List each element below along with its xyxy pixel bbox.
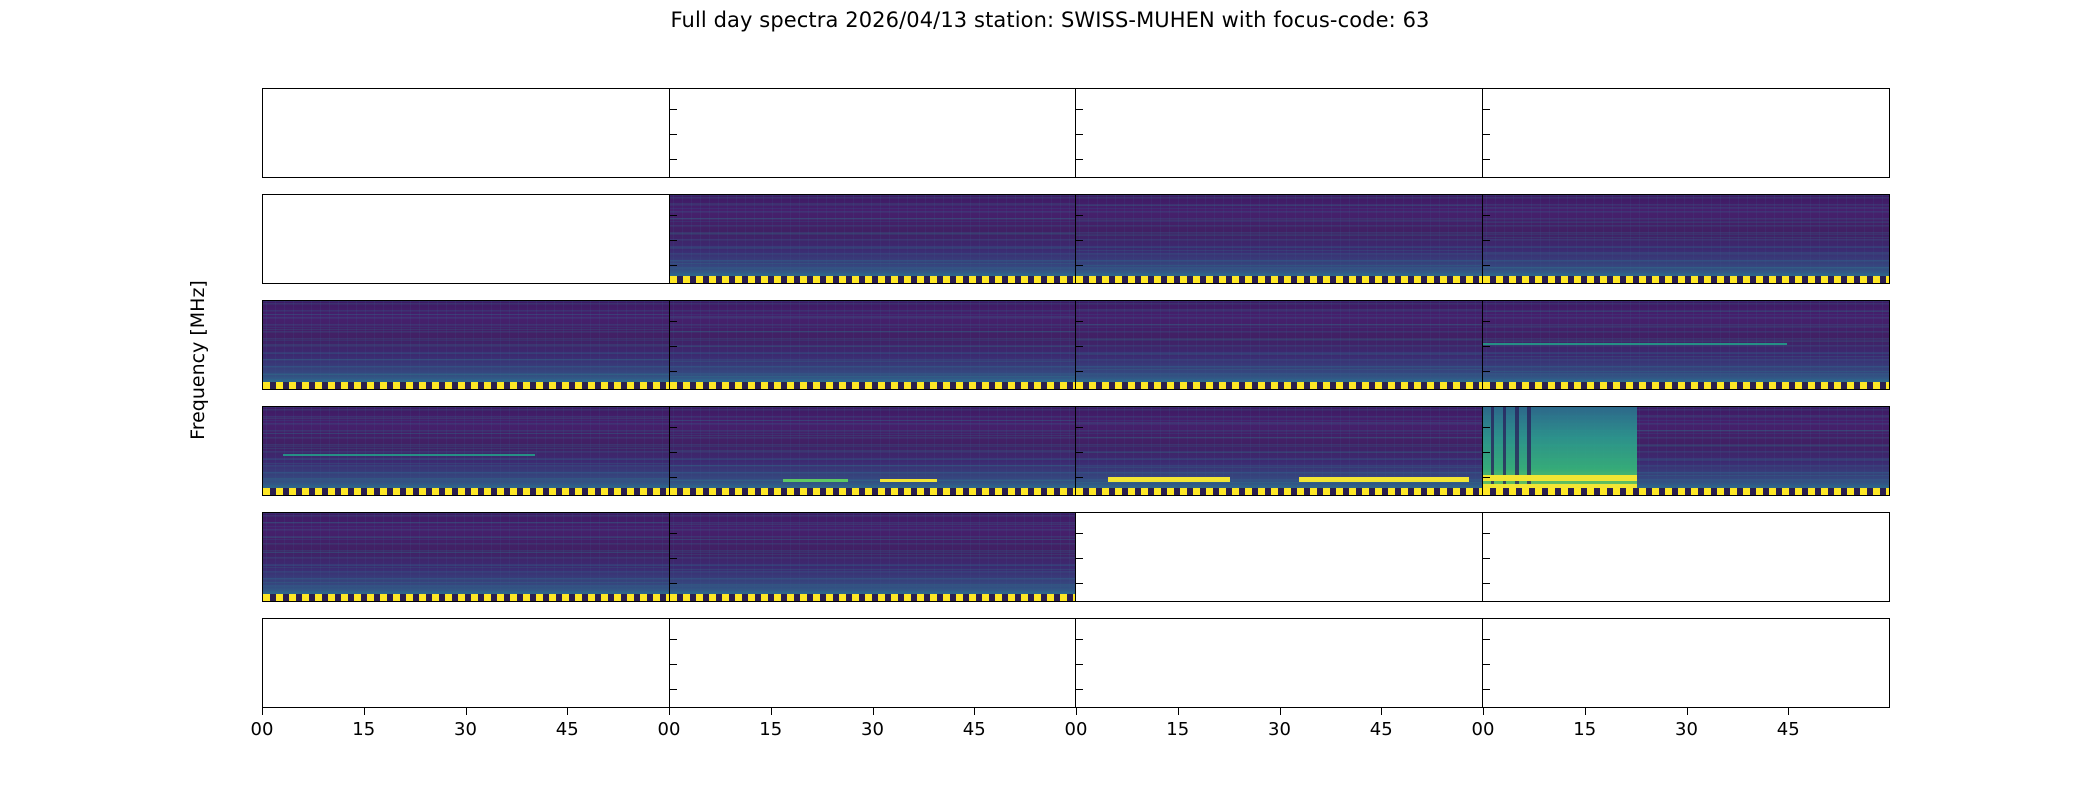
x-tick-mark <box>771 708 772 715</box>
y-tick-mark <box>1483 321 1490 322</box>
hour-panels <box>263 513 1889 601</box>
y-tick-mark <box>1483 533 1490 534</box>
y-tick-mark <box>1483 558 1490 559</box>
spectral-trace <box>263 567 669 568</box>
hour-panel <box>670 301 1077 389</box>
hour-panel <box>1483 513 1890 601</box>
spectral-trace <box>1483 341 1890 342</box>
spectrogram-row: 75502508-11UT <box>262 300 1890 390</box>
empty-panel <box>1076 89 1482 177</box>
spectral-trace <box>1076 324 1482 325</box>
x-tick-label: 30 <box>1268 719 1291 740</box>
empty-panel <box>670 619 1076 707</box>
hour-panels <box>263 195 1889 283</box>
spectral-trace <box>670 435 1076 436</box>
x-tick-label: 45 <box>1370 719 1393 740</box>
spectral-trace <box>670 465 1076 466</box>
x-tick-mark <box>1483 708 1484 715</box>
y-tick-mark <box>1483 427 1490 428</box>
x-tick-mark <box>364 708 365 715</box>
y-tick-mark <box>1076 558 1083 559</box>
spectral-trace <box>670 554 1076 555</box>
spectral-trace <box>263 448 669 449</box>
spectral-trace <box>1076 309 1482 310</box>
x-tick-mark <box>974 708 975 715</box>
y-tick-mark <box>1076 689 1083 690</box>
y-tick-mark <box>670 215 677 216</box>
spectral-trace <box>1076 422 1482 423</box>
spectral-trace <box>263 314 669 315</box>
spectral-trace <box>263 433 669 434</box>
x-tick-mark <box>1788 708 1789 715</box>
y-tick-mark <box>670 427 677 428</box>
y-tick-mark <box>1076 240 1083 241</box>
hour-panel <box>1076 407 1483 495</box>
spectrogram-image <box>1076 407 1482 495</box>
emission-feature <box>783 479 848 482</box>
burst-striation <box>1515 407 1519 495</box>
spectral-trace <box>1076 369 1482 370</box>
emission-feature <box>1299 477 1469 482</box>
x-tick-mark <box>873 708 874 715</box>
hour-panel <box>263 195 670 283</box>
hour-panel <box>1076 619 1483 707</box>
spectral-trace <box>670 584 1076 585</box>
hour-panel <box>1483 407 1890 495</box>
spectral-trace <box>1483 237 1890 238</box>
hour-panel <box>1483 619 1890 707</box>
x-tick-mark <box>466 708 467 715</box>
hour-panel <box>1483 89 1890 177</box>
hour-panel <box>1076 89 1483 177</box>
hour-panel <box>263 301 670 389</box>
y-tick-mark <box>262 321 263 322</box>
baseline-band <box>1483 276 1890 283</box>
x-tick-label: 45 <box>963 719 986 740</box>
spectrogram-image <box>670 195 1076 283</box>
y-tick-mark <box>670 558 677 559</box>
empty-panel <box>1483 89 1890 177</box>
empty-panel <box>263 89 669 177</box>
x-tick-label: 15 <box>1166 719 1189 740</box>
y-tick-mark <box>1483 346 1490 347</box>
spectral-trace <box>263 552 669 553</box>
spectral-trace <box>1076 482 1482 483</box>
spectral-trace <box>670 248 1076 249</box>
x-tick-label: 45 <box>556 719 579 740</box>
y-tick-mark <box>1483 240 1490 241</box>
y-tick-mark <box>670 159 677 160</box>
hour-panel <box>670 195 1077 283</box>
spectral-trace <box>1483 311 1890 312</box>
spectrogram-row: 75502520-23UT <box>262 618 1890 708</box>
spectral-trace <box>670 263 1076 264</box>
y-tick-mark <box>262 134 263 135</box>
y-tick-mark <box>262 346 263 347</box>
x-tick-label: 30 <box>861 719 884 740</box>
spectrogram-image <box>263 407 669 495</box>
x-tick-mark <box>669 708 670 715</box>
spectral-trace <box>1483 252 1890 253</box>
y-tick-mark <box>262 159 263 160</box>
y-tick-mark <box>1076 134 1083 135</box>
empty-panel <box>263 619 669 707</box>
spectral-trace <box>670 480 1076 481</box>
emission-feature <box>283 454 534 456</box>
y-tick-mark <box>670 240 677 241</box>
emission-feature <box>880 479 937 482</box>
y-tick-mark <box>670 346 677 347</box>
spectral-trace <box>670 539 1076 540</box>
y-tick-mark <box>1076 109 1083 110</box>
empty-panel <box>263 195 669 283</box>
x-tick-label: 30 <box>1675 719 1698 740</box>
y-tick-mark <box>262 427 263 428</box>
emission-feature <box>1483 475 1637 481</box>
y-tick-mark <box>1483 452 1490 453</box>
hour-panels <box>263 89 1889 177</box>
spectrogram-row: 75502512-15UT <box>262 406 1890 496</box>
y-tick-mark <box>262 583 263 584</box>
spectral-trace <box>263 374 669 375</box>
hour-panel <box>1076 195 1483 283</box>
spectral-trace <box>1076 452 1482 453</box>
y-tick-mark <box>262 533 263 534</box>
hour-panels <box>263 619 1889 707</box>
x-tick-mark <box>1381 708 1382 715</box>
y-tick-mark <box>670 477 677 478</box>
hour-panel <box>670 513 1077 601</box>
y-tick-mark <box>670 265 677 266</box>
emission-feature <box>1108 477 1230 482</box>
baseline-band <box>670 276 1076 283</box>
spectrogram-image <box>263 301 669 389</box>
spectral-trace <box>1483 222 1890 223</box>
spectral-trace <box>263 463 669 464</box>
baseline-band <box>670 488 1076 495</box>
empty-panel <box>1076 619 1482 707</box>
baseline-band <box>1483 488 1890 495</box>
baseline-band <box>263 488 669 495</box>
y-tick-mark <box>262 265 263 266</box>
baseline-band <box>1076 382 1482 389</box>
y-tick-mark <box>262 558 263 559</box>
rows-container: 75502500-03UT75502504-07UT75502508-11UT7… <box>262 88 1890 708</box>
spectral-trace <box>670 218 1076 219</box>
spectral-trace <box>1483 267 1890 268</box>
spectral-trace <box>670 569 1076 570</box>
y-tick-mark <box>670 533 677 534</box>
y-tick-mark <box>1483 583 1490 584</box>
spectral-trace <box>670 203 1076 204</box>
y-tick-mark <box>262 240 263 241</box>
baseline-band <box>670 594 1076 601</box>
baseline-band <box>263 594 669 601</box>
x-tick-label: 00 <box>658 719 681 740</box>
hour-panel <box>1483 195 1890 283</box>
spectral-trace <box>1483 207 1890 208</box>
y-tick-mark <box>1483 477 1490 478</box>
x-tick-mark <box>1280 708 1281 715</box>
hour-panel <box>263 407 670 495</box>
y-tick-mark <box>1076 583 1083 584</box>
spectral-trace <box>1483 371 1890 372</box>
hour-panels <box>263 407 1889 495</box>
y-tick-mark <box>1483 134 1490 135</box>
burst-striation <box>1527 407 1531 495</box>
hour-panel <box>263 513 670 601</box>
spectrogram-row: 75502504-07UT <box>262 194 1890 284</box>
y-tick-mark <box>1076 215 1083 216</box>
spectral-trace <box>670 420 1076 421</box>
x-tick-label: 00 <box>1065 719 1088 740</box>
y-tick-mark <box>262 215 263 216</box>
spectral-trace <box>1076 205 1482 206</box>
y-tick-mark <box>1076 639 1083 640</box>
spectral-trace <box>1483 356 1890 357</box>
y-tick-mark <box>262 452 263 453</box>
x-tick-label: 30 <box>454 719 477 740</box>
spectral-trace <box>263 329 669 330</box>
y-tick-mark <box>1076 371 1083 372</box>
spectral-trace <box>1076 250 1482 251</box>
x-tick-mark <box>262 708 263 715</box>
spectral-trace <box>1076 265 1482 266</box>
baseline-band <box>1076 276 1482 283</box>
x-tick-label: 15 <box>1573 719 1596 740</box>
y-tick-mark <box>1483 109 1490 110</box>
y-tick-mark <box>670 371 677 372</box>
spectrogram-row: 75502516-19UT <box>262 512 1890 602</box>
x-tick-label: 15 <box>759 719 782 740</box>
spectral-trace <box>670 376 1076 377</box>
spectral-trace <box>1076 339 1482 340</box>
emission-feature <box>1483 343 1788 345</box>
spectral-trace <box>670 316 1076 317</box>
y-tick-mark <box>1076 321 1083 322</box>
empty-panel <box>1483 619 1890 707</box>
y-tick-mark <box>1076 346 1083 347</box>
spectral-trace <box>263 359 669 360</box>
y-tick-mark <box>670 452 677 453</box>
spectral-trace <box>1483 326 1890 327</box>
spectral-trace <box>1076 235 1482 236</box>
y-tick-mark <box>1483 265 1490 266</box>
empty-panel <box>1076 513 1482 601</box>
y-tick-mark <box>1076 477 1083 478</box>
hour-panel <box>670 407 1077 495</box>
x-axis: 00153045001530450015304500153045 <box>262 708 1890 748</box>
spectral-trace <box>263 537 669 538</box>
y-tick-mark <box>1483 639 1490 640</box>
empty-panel <box>670 89 1076 177</box>
spectrogram-image <box>670 407 1076 495</box>
hour-panel <box>263 89 670 177</box>
spectrogram-image <box>1483 407 1890 495</box>
spectrogram-image <box>1076 195 1482 283</box>
y-tick-mark <box>1483 664 1490 665</box>
x-tick-mark <box>1076 708 1077 715</box>
x-tick-mark <box>1687 708 1688 715</box>
hour-panel <box>263 619 670 707</box>
spectral-trace <box>263 418 669 419</box>
spectral-trace <box>670 361 1076 362</box>
y-tick-mark <box>670 134 677 135</box>
spectral-trace <box>670 331 1076 332</box>
y-tick-mark <box>1483 215 1490 216</box>
baseline-band <box>1483 382 1890 389</box>
spectral-trace <box>670 450 1076 451</box>
empty-panel <box>1483 513 1890 601</box>
spectral-trace <box>263 582 669 583</box>
x-tick-mark <box>567 708 568 715</box>
y-tick-mark <box>1483 159 1490 160</box>
spectral-trace <box>670 524 1076 525</box>
spectrogram-image <box>670 301 1076 389</box>
baseline-band <box>263 382 669 389</box>
x-tick-label: 00 <box>1472 719 1495 740</box>
x-tick-label: 00 <box>251 719 274 740</box>
spectral-trace <box>263 344 669 345</box>
x-tick-mark <box>1178 708 1179 715</box>
spectral-trace <box>1076 467 1482 468</box>
y-tick-mark <box>1076 452 1083 453</box>
y-tick-mark <box>670 639 677 640</box>
spectral-trace <box>1076 354 1482 355</box>
spectrogram-row: 75502500-03UT <box>262 88 1890 178</box>
spectral-trace <box>1076 437 1482 438</box>
spectrogram-image <box>1483 195 1890 283</box>
y-tick-mark <box>670 689 677 690</box>
y-tick-mark <box>1483 689 1490 690</box>
hour-panel <box>1076 513 1483 601</box>
spectral-trace <box>1076 220 1482 221</box>
y-tick-mark <box>1076 265 1083 266</box>
hour-panel <box>670 619 1077 707</box>
y-tick-mark <box>1076 427 1083 428</box>
y-tick-mark <box>262 639 263 640</box>
hour-panel <box>670 89 1077 177</box>
x-tick-mark <box>1585 708 1586 715</box>
baseline-band <box>670 382 1076 389</box>
x-tick-label: 15 <box>352 719 375 740</box>
y-tick-mark <box>262 477 263 478</box>
y-tick-mark <box>262 109 263 110</box>
y-tick-mark <box>670 109 677 110</box>
spectrogram-image <box>1483 301 1890 389</box>
y-tick-mark <box>1076 664 1083 665</box>
baseline-band <box>1076 488 1482 495</box>
burst-striation <box>1491 407 1495 495</box>
hour-panels <box>263 301 1889 389</box>
spectral-trace <box>263 478 669 479</box>
y-tick-mark <box>1483 371 1490 372</box>
y-tick-mark <box>262 371 263 372</box>
spectral-trace <box>670 233 1076 234</box>
y-tick-mark <box>262 664 263 665</box>
spectrogram-image <box>670 513 1076 601</box>
spectrogram-figure: Full day spectra 2026/04/13 station: SWI… <box>0 0 2100 800</box>
spectrogram-image <box>1076 301 1482 389</box>
spectrogram-image <box>263 513 669 601</box>
spectral-trace <box>263 522 669 523</box>
y-tick-mark <box>670 664 677 665</box>
y-tick-mark <box>262 689 263 690</box>
y-tick-mark <box>670 583 677 584</box>
y-tick-mark <box>1076 533 1083 534</box>
hour-panel <box>1483 301 1890 389</box>
page-title: Full day spectra 2026/04/13 station: SWI… <box>0 8 2100 32</box>
hour-panel <box>1076 301 1483 389</box>
x-tick-label: 45 <box>1777 719 1800 740</box>
burst-striation <box>1503 407 1507 495</box>
y-tick-mark <box>1076 159 1083 160</box>
y-tick-mark <box>670 321 677 322</box>
spectral-trace <box>670 346 1076 347</box>
